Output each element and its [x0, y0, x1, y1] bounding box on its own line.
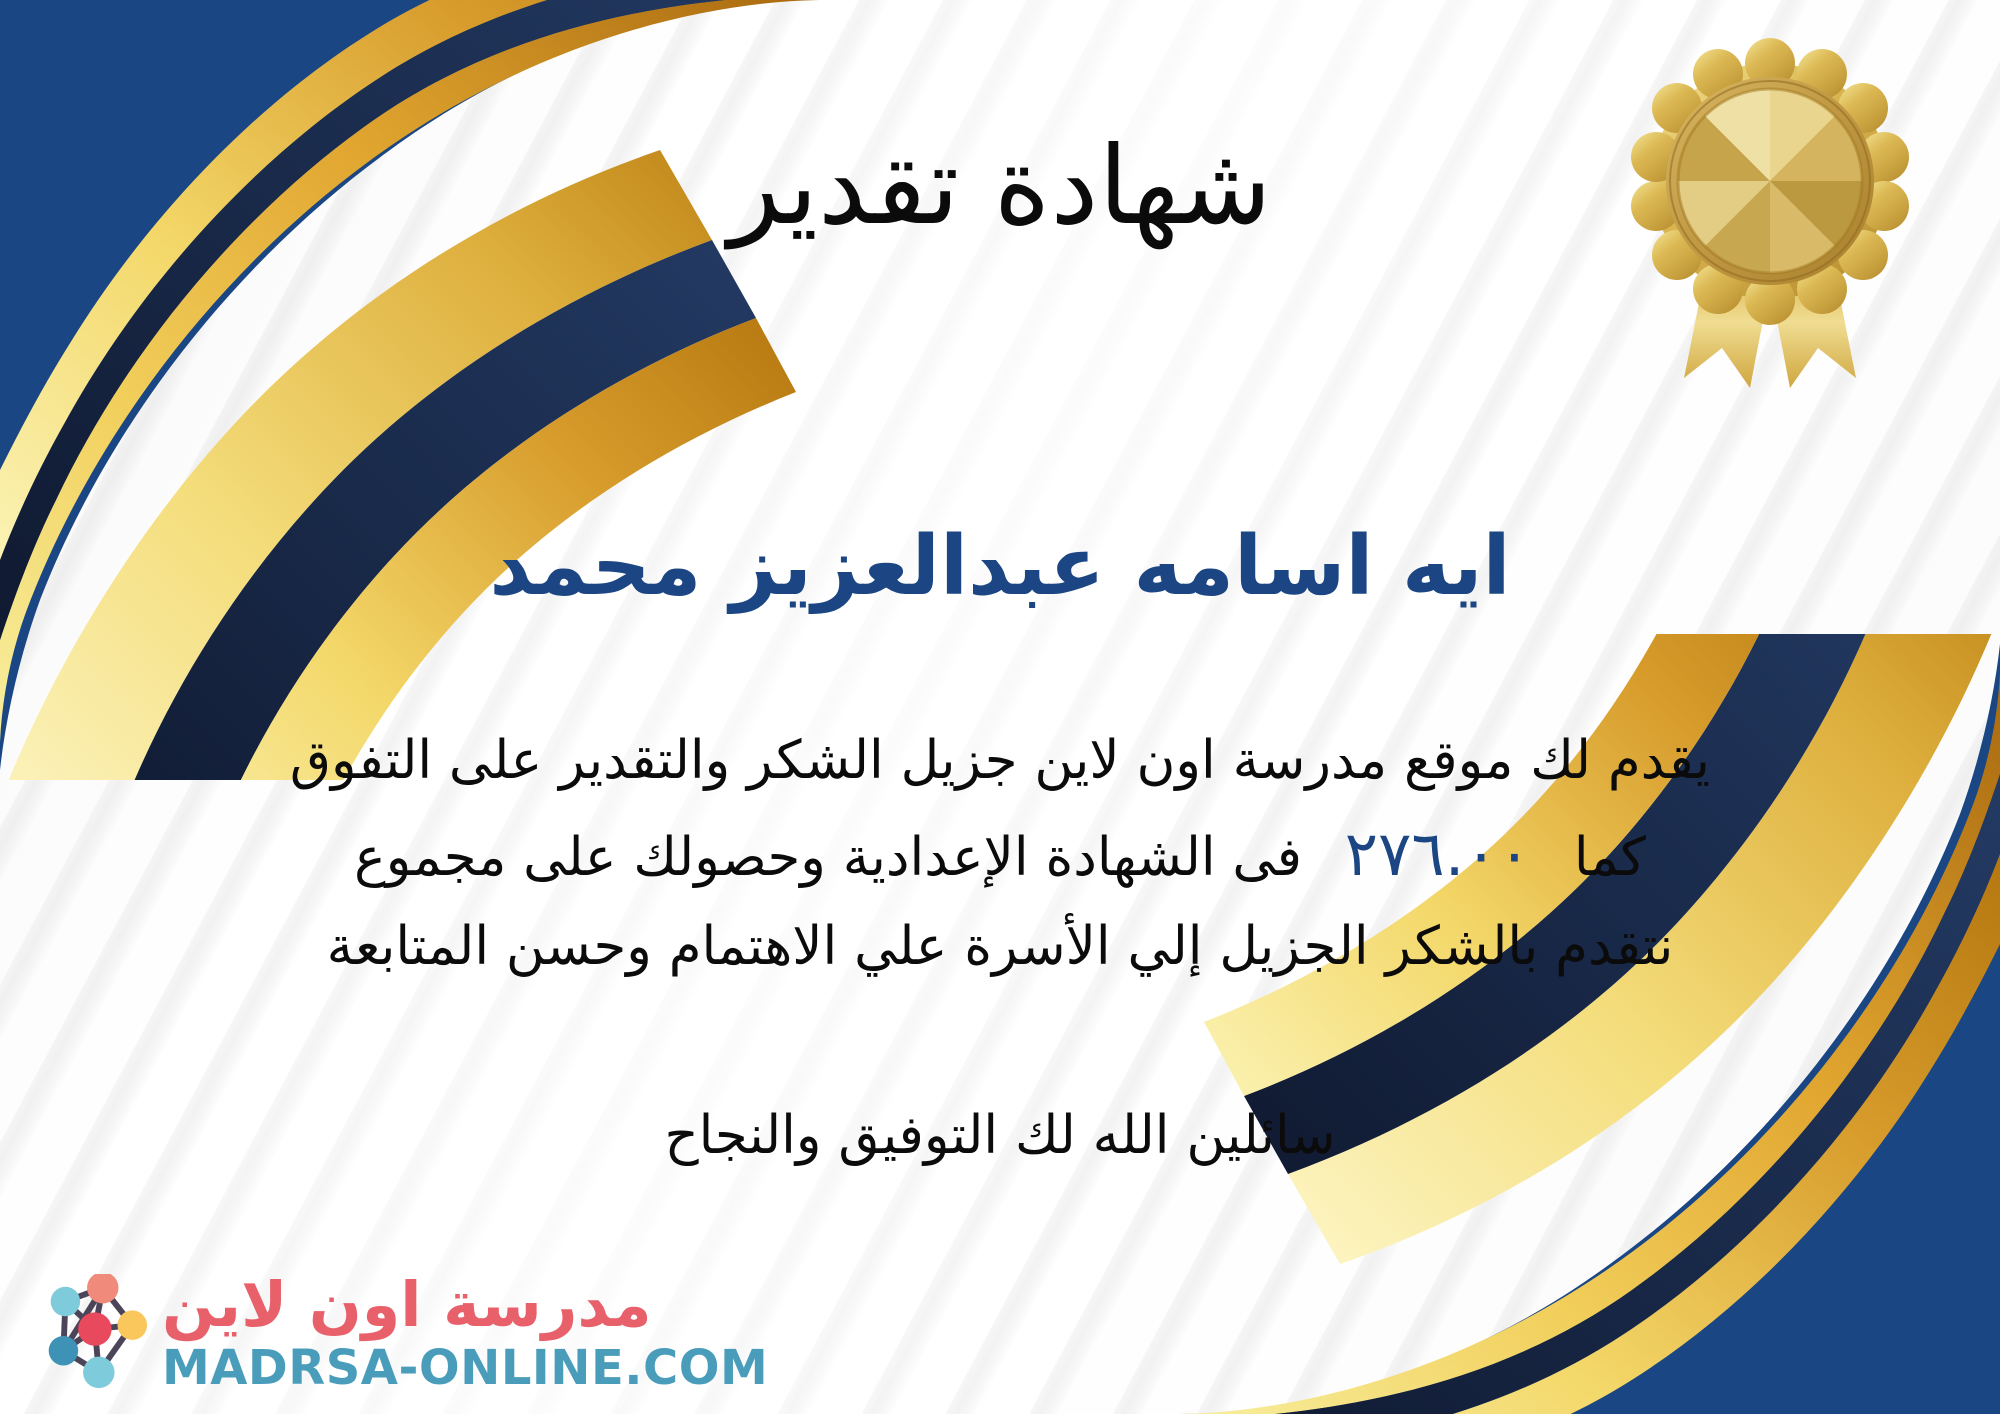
- body-line-2-suffix: كما: [1574, 827, 1646, 888]
- total-score-value: ٢٧٦.٠٠: [1319, 817, 1557, 890]
- body-line-2-prefix: فى الشهادة الإعدادية وحصولك على مجموع: [354, 827, 1302, 888]
- site-logo[interactable]: مدرسة اون لاين MADRSA-ONLINE.COM: [30, 1274, 768, 1392]
- certificate-title: شهادة تقدير: [0, 128, 2000, 247]
- recipient-name: ايه اسامه عبدالعزيز محمد: [0, 520, 2000, 614]
- certificate-body: يقدم لك موقع مدرسة اون لاين جزيل الشكر و…: [40, 718, 1960, 990]
- body-line-2: كما ٢٧٦.٠٠ فى الشهادة الإعدادية وحصولك ع…: [40, 804, 1960, 904]
- closing-wish-line: سائلين الله لك التوفيق والنجاح: [0, 1105, 2000, 1166]
- node-red: [78, 1312, 111, 1345]
- network-graph-icon: [30, 1274, 148, 1392]
- logo-text-block: مدرسة اون لاين MADRSA-ONLINE.COM: [162, 1274, 768, 1392]
- node-light-teal: [51, 1287, 81, 1317]
- certificate-canvas: شهادة تقدير ايه اسامه عبدالعزيز محمد يقد…: [0, 0, 2000, 1414]
- body-line-1: يقدم لك موقع مدرسة اون لاين جزيل الشكر و…: [40, 718, 1960, 804]
- node-light-blue: [83, 1357, 114, 1388]
- logo-arabic-name: مدرسة اون لاين: [162, 1274, 652, 1336]
- logo-domain-name: MADRSA-ONLINE.COM: [162, 1344, 768, 1392]
- body-line-3: نتقدم بالشكر الجزيل إلي الأسرة علي الاهت…: [40, 904, 1960, 990]
- node-dark-teal: [49, 1336, 79, 1366]
- node-amber: [118, 1310, 147, 1340]
